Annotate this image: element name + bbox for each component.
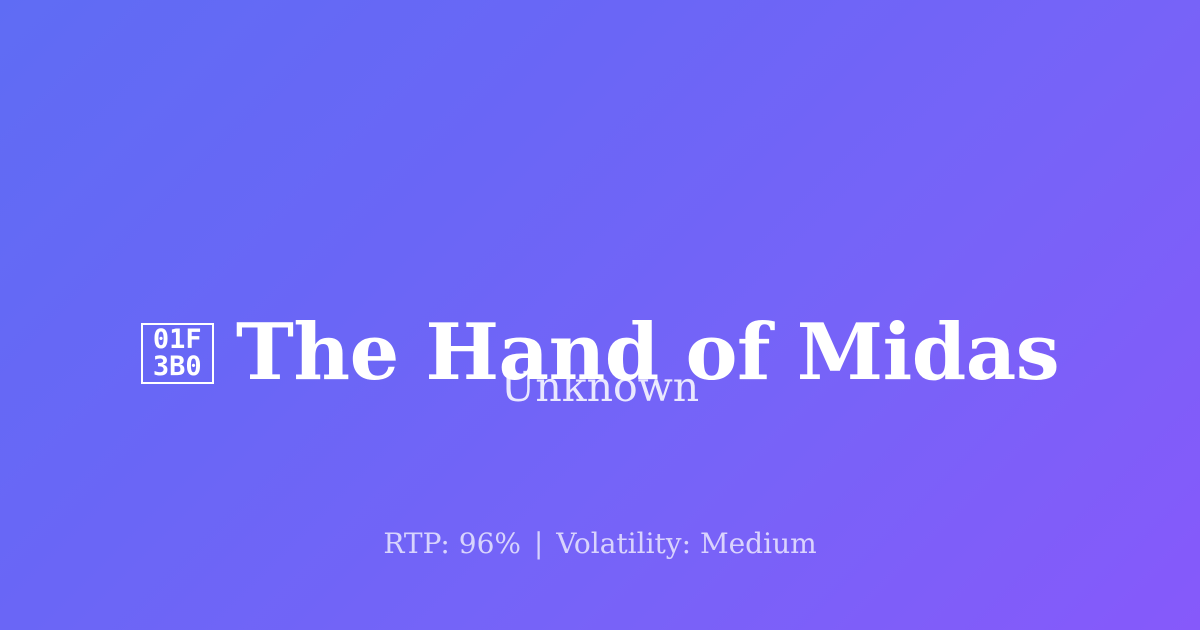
rtp-value: RTP: 96% [383,527,521,560]
game-preview-card: 01F 3B0 The Hand of Midas Unknown RTP: 9… [0,0,1200,630]
volatility-value: Volatility: Medium [556,527,816,560]
provider-subtitle: Unknown [0,362,1200,412]
title-row: 01F 3B0 The Hand of Midas [0,0,1200,396]
tofu-codepoint-upper: 01F [153,326,202,353]
stats-separator: | [530,527,547,560]
game-stats: RTP: 96% | Volatility: Medium [0,527,1200,561]
